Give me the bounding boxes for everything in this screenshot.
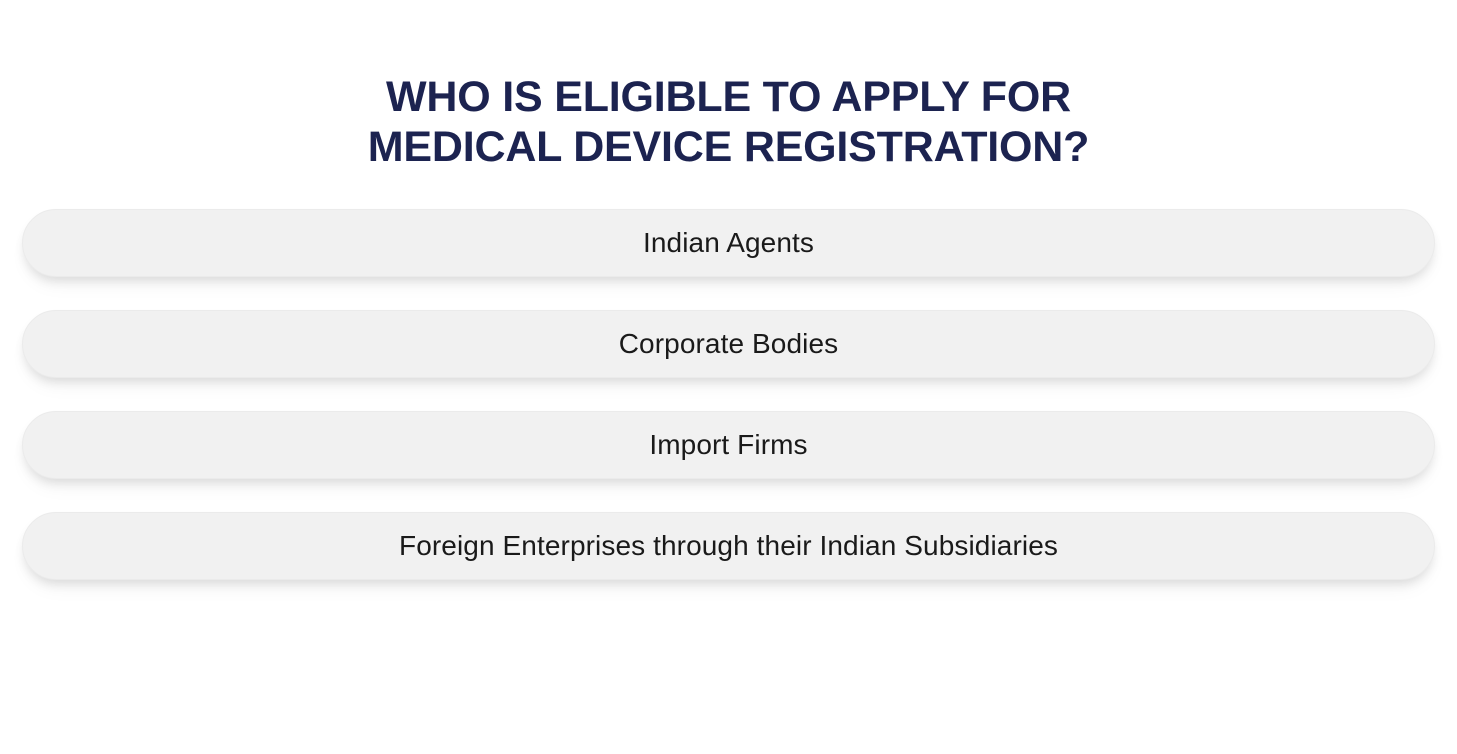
answer-option-4[interactable]: Foreign Enterprises through their Indian…: [22, 512, 1435, 580]
page-title-line-2: MEDICAL DEVICE REGISTRATION?: [0, 122, 1457, 172]
answer-option-label: Indian Agents: [643, 227, 814, 259]
answer-option-1[interactable]: Indian Agents: [22, 209, 1435, 277]
quiz-card: WHO IS ELIGIBLE TO APPLY FOR MEDICAL DEV…: [0, 0, 1457, 754]
answer-option-2[interactable]: Corporate Bodies: [22, 310, 1435, 378]
page-title-line-1: WHO IS ELIGIBLE TO APPLY FOR: [0, 72, 1457, 122]
answer-options-list: Indian Agents Corporate Bodies Import Fi…: [22, 209, 1435, 580]
page-title: WHO IS ELIGIBLE TO APPLY FOR MEDICAL DEV…: [0, 72, 1457, 172]
answer-option-label: Foreign Enterprises through their Indian…: [399, 530, 1058, 562]
answer-option-label: Import Firms: [649, 429, 807, 461]
answer-option-label: Corporate Bodies: [619, 328, 839, 360]
answer-option-3[interactable]: Import Firms: [22, 411, 1435, 479]
